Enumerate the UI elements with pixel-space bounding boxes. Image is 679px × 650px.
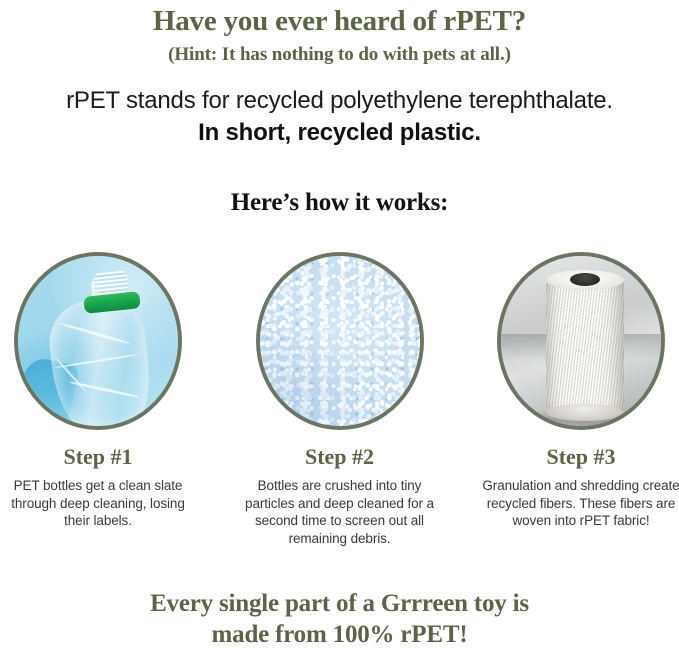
pellets-sheen-overlay [260,256,420,426]
step-2-title: Step #2 [305,444,374,470]
footer-line-1: Every single part of a Grrreen toy is [0,588,679,619]
how-it-works-title: Here’s how it works: [0,188,679,218]
steps-row: Step #1 PET bottles get a clean slate th… [0,252,679,547]
step-1-title: Step #1 [63,444,132,470]
footer-tagline: Every single part of a Grrreen toy is ma… [0,588,679,650]
step-1: Step #1 PET bottles get a clean slate th… [14,252,182,547]
lede-line-2: In short, recycled plastic. [0,117,679,149]
step-1-image-circle [14,252,182,430]
step-2-description: Bottles are crushed into tiny particles … [240,477,440,547]
step-3-description: Granulation and shredding create recycle… [481,477,679,530]
step-3: Step #3 Granulation and shredding create… [497,252,665,547]
page-headline: Have you ever heard of rPET? [0,4,679,38]
spool-bottom-rim [546,404,624,421]
page-subheadline: (Hint: It has nothing to do with pets at… [0,43,679,67]
lede-line-1: rPET stands for recycled polyethylene te… [0,85,679,117]
thread-spool-photo [501,256,661,426]
step-1-description: PET bottles get a clean slate through de… [0,477,198,530]
step-2-image-circle [256,252,424,430]
step-2: Step #2 Bottles are crushed into tiny pa… [256,252,424,547]
step-3-image-circle [497,252,665,430]
footer-line-2: made from 100% rPET! [0,619,679,650]
crushed-pet-bottle-photo [18,256,178,426]
infographic-page: Have you ever heard of rPET? (Hint: It h… [0,0,679,649]
lede-block: rPET stands for recycled polyethylene te… [0,85,679,149]
spool-center-hole [570,273,600,286]
step-3-title: Step #3 [546,444,615,470]
spool-thread-body [546,278,624,414]
